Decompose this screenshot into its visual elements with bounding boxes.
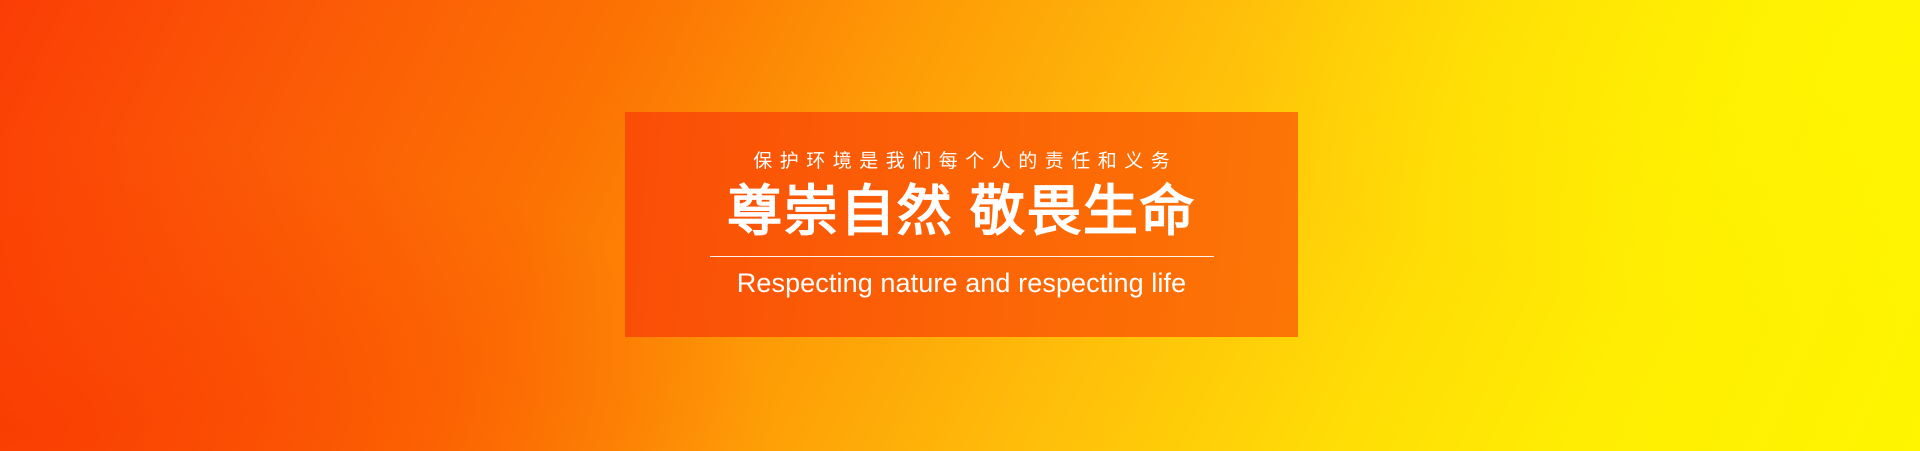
horizontal-divider (710, 256, 1214, 257)
headline-chinese: 尊崇自然 敬畏生命 (727, 182, 1196, 240)
environmental-protection-banner: 保护环境是我们每个人的责任和义务 尊崇自然 敬畏生命 Respecting na… (0, 0, 1920, 451)
tagline-english: Respecting nature and respecting life (737, 270, 1186, 297)
subtitle-chinese: 保护环境是我们每个人的责任和义务 (746, 152, 1178, 171)
slogan-card: 保护环境是我们每个人的责任和义务 尊崇自然 敬畏生命 Respecting na… (625, 112, 1298, 337)
